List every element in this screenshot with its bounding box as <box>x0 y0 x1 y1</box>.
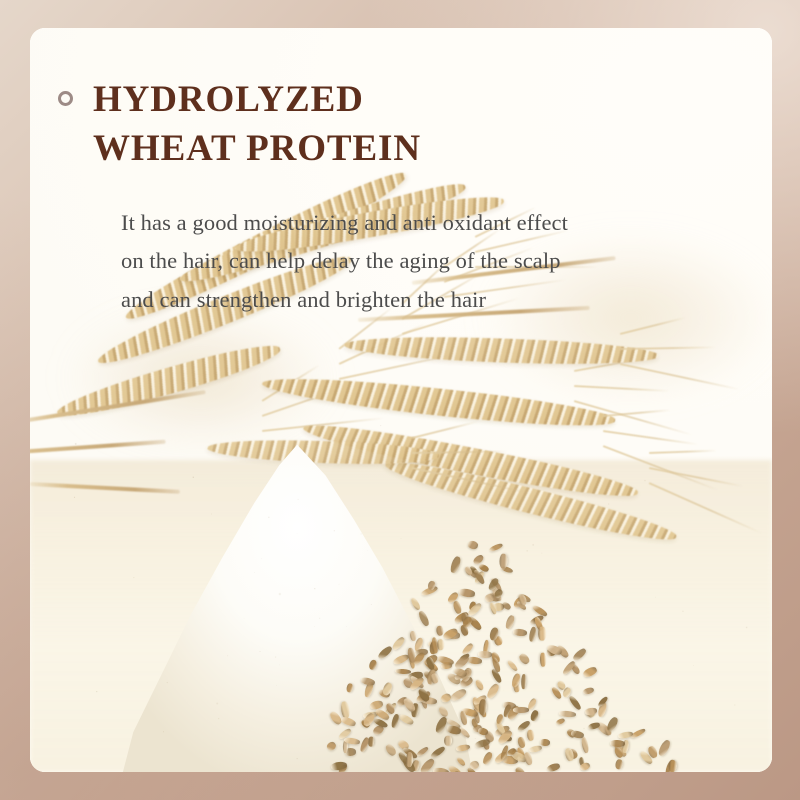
flour-dust-3 <box>179 470 721 714</box>
wheat-ear <box>344 333 659 368</box>
page-title-line-2: WHEAT PROTEIN <box>93 125 421 174</box>
description-line-1: It has a good moisturizing and anti oxid… <box>121 204 721 243</box>
description-text: It has a good moisturizing and anti oxid… <box>121 204 721 320</box>
page-title-line-1: HYDROLYZED <box>93 79 364 120</box>
card-content: HYDROLYZED WHEAT PROTEIN It has a good m… <box>30 28 772 320</box>
wheat-awn <box>620 346 716 350</box>
page-title: HYDROLYZED WHEAT PROTEIN <box>93 76 421 174</box>
circle-outline-icon <box>58 91 73 106</box>
description-line-2: on the hair, can help delay the aging of… <box>121 242 721 281</box>
heading-row: HYDROLYZED WHEAT PROTEIN <box>58 76 728 174</box>
description-line-3: and can strengthen and brighten the hair <box>121 281 721 320</box>
product-ingredient-card: HYDROLYZED WHEAT PROTEIN It has a good m… <box>30 28 772 772</box>
outer-frame: HYDROLYZED WHEAT PROTEIN It has a good m… <box>0 0 800 800</box>
